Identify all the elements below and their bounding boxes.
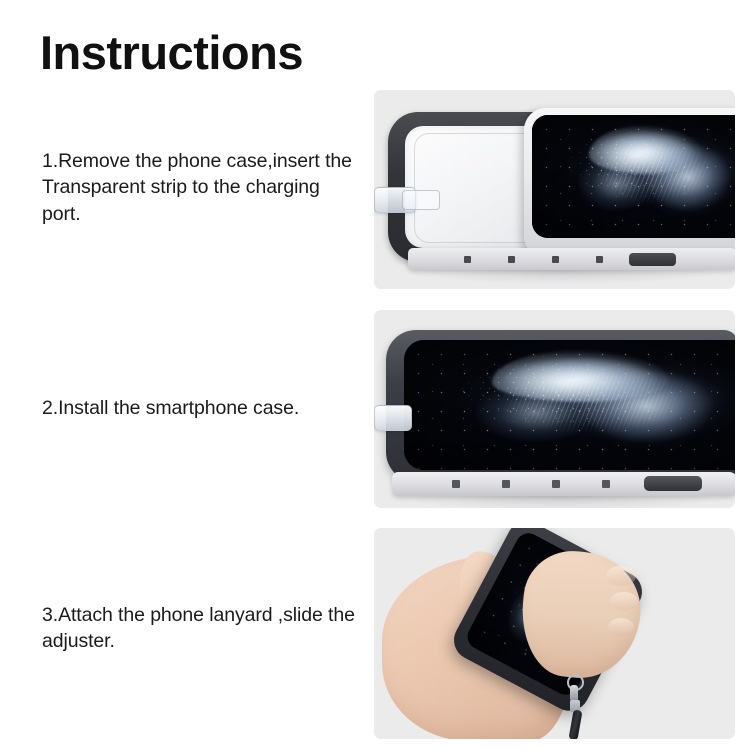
instructions-page: Instructions 1.Remove the phone case,ins…	[0, 0, 750, 750]
case-side-button	[644, 476, 702, 491]
hand-knuckle	[610, 592, 638, 611]
step-3-text: 3.Attach the phone lanyard ,slide the ad…	[42, 602, 362, 655]
step-2-illustration	[374, 310, 735, 508]
case-side-button	[629, 253, 676, 266]
phone-screen-wallpaper	[404, 340, 735, 470]
wallpaper-vignette	[532, 115, 735, 238]
transparent-strip-inserted-part	[402, 190, 440, 210]
case-rail-hole	[464, 256, 471, 263]
case-rail-hole	[596, 256, 603, 263]
case-bottom-rail	[408, 248, 735, 270]
step-2-text: 2.Install the smartphone case.	[42, 395, 362, 421]
case-rail-hole	[552, 256, 559, 263]
steps-image-column	[374, 0, 750, 750]
lanyard-cord	[568, 709, 582, 739]
phone-screen-wallpaper	[532, 115, 735, 238]
step-3-illustration	[374, 528, 735, 739]
case-rail-hole	[452, 480, 460, 488]
hand-knuckle	[608, 618, 634, 636]
case-rail-hole	[508, 256, 515, 263]
step-1-illustration	[374, 90, 735, 289]
step-1-text: 1.Remove the phone case,insert the Trans…	[42, 148, 362, 227]
steps-text-column: 1.Remove the phone case,insert the Trans…	[0, 0, 374, 750]
wallpaper-vignette	[404, 340, 735, 470]
step-3-image-panel	[374, 528, 735, 739]
hand-knuckle	[606, 566, 636, 586]
case-rail-hole	[552, 480, 560, 488]
case-rail-hole	[602, 480, 610, 488]
transparent-strip-icon	[374, 405, 412, 431]
step-1-image-panel	[374, 90, 735, 289]
step-2-image-panel	[374, 310, 735, 508]
case-rail-hole	[502, 480, 510, 488]
